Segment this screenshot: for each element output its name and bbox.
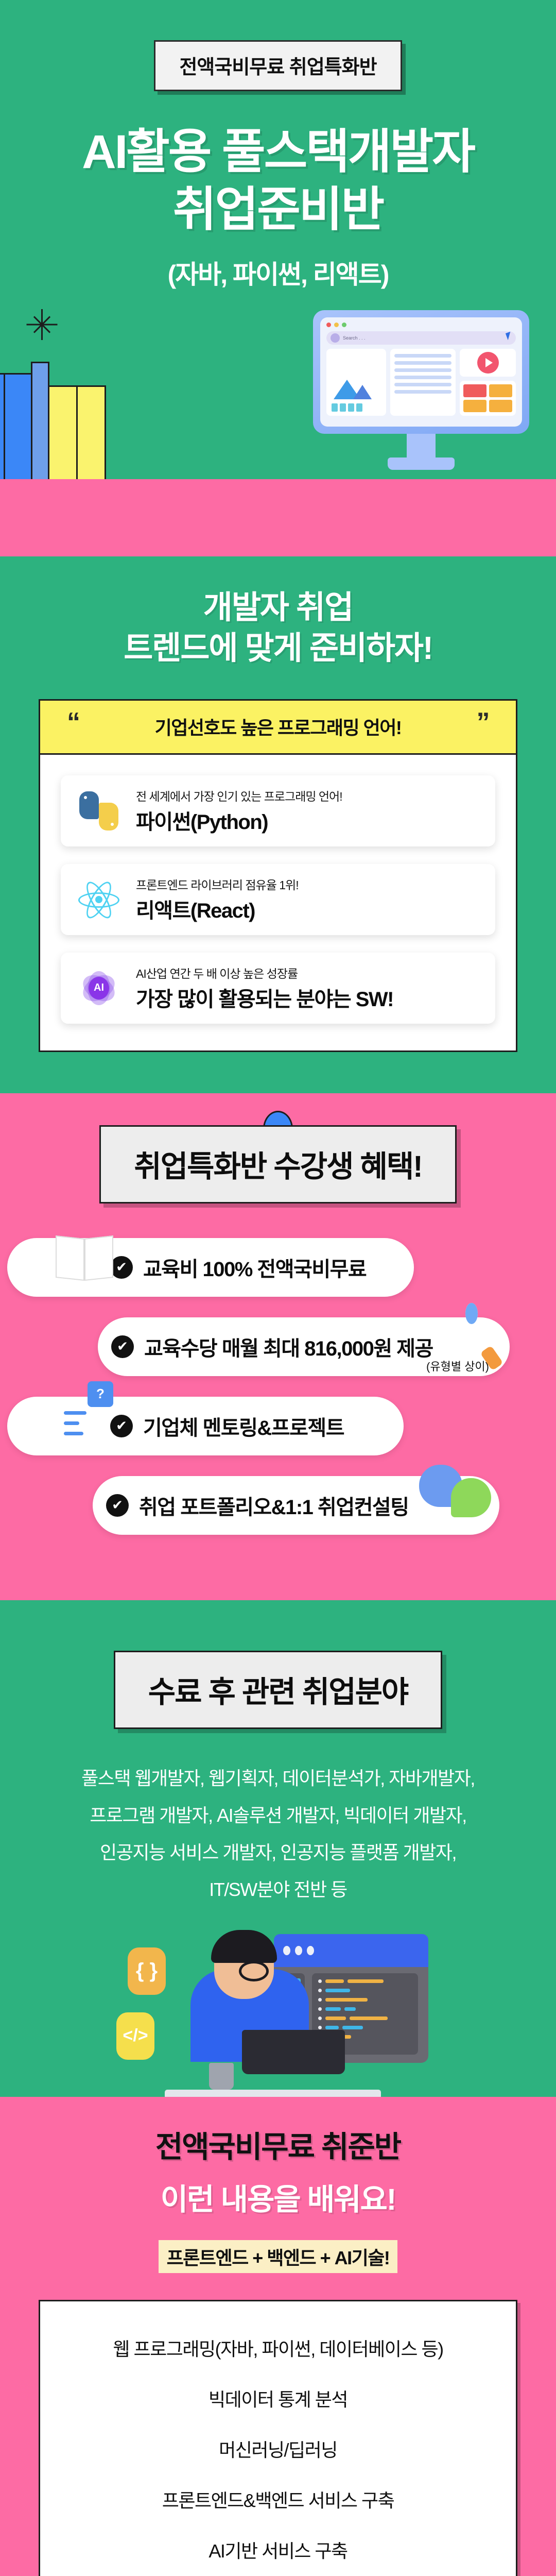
monitor-illustration: Search . . .: [313, 310, 529, 470]
lang-name: 가장 많이 활용되는 분야는 SW!: [136, 982, 393, 1012]
open-book-icon: [51, 1229, 117, 1286]
curriculum-tag: 프론트엔드 + 백엔드 + AI기술!: [159, 2240, 398, 2273]
ai-logo-icon: AI: [75, 964, 123, 1012]
quote-open-icon: “: [67, 707, 80, 738]
benefit-text: 교육수당 매월 최대 816,000원 제공: [144, 1332, 433, 1362]
curriculum-title-line2: 이런 내용을 배워요!: [0, 2175, 556, 2218]
lang-subtitle: AI산업 연간 두 배 이상 높은 성장률: [136, 964, 393, 981]
glasses-icon: [239, 1961, 269, 1981]
person-hair: [211, 1930, 277, 1963]
fields-line: 풀스택 웹개발자, 웹기획자, 데이터분석가, 자바개발자,: [0, 1760, 556, 1797]
list-item: AI기반 서비스 구축: [56, 2536, 500, 2563]
coder-illustration: { } </>: [113, 1929, 443, 2099]
trend-box-header: “ 기업선호도 높은 프로그래밍 언어! ”: [40, 701, 516, 755]
monitor-screen: Search . . .: [313, 310, 529, 434]
fields-plaque-wrap: 수료 후 관련 취업분야: [114, 1651, 443, 1729]
trend-box: “ 기업선호도 높은 프로그래밍 언어! ” 전 세계에서 가장 인기 있는 프…: [39, 699, 517, 1052]
book-icon: [4, 373, 32, 479]
monitor-neck: [407, 434, 436, 457]
benefit-text: 기업체 멘토링&프로젝트: [143, 1411, 344, 1441]
code-icon: </>: [116, 2012, 154, 2060]
list-item: ✔ 취업 포트폴리오&1:1 취업컨설팅: [0, 1475, 556, 1536]
react-logo-icon: [75, 876, 123, 923]
search-icon: [331, 333, 340, 343]
ai-badge-label: AI: [89, 977, 109, 999]
window-dots-icon: [274, 1934, 428, 1967]
fields-line: 인공지능 서비스 개발자, 인공지능 플랫폼 개발자,: [0, 1834, 556, 1871]
play-icon: [477, 352, 499, 374]
window-dots-icon: [326, 323, 516, 327]
check-icon: ✔: [111, 1335, 134, 1358]
cursor-icon: [506, 332, 513, 341]
search-placeholder: Search . . .: [343, 335, 366, 341]
list-item: 전 세계에서 가장 인기 있는 프로그래밍 언어! 파이썬(Python): [61, 775, 495, 846]
book-icon: [48, 385, 78, 479]
list-item: ✔ 교육비 100% 전액국비무료: [0, 1236, 556, 1298]
benefits-list: ✔ 교육비 100% 전액국비무료 ✔ 교육수당 매월 최대 816,000원 …: [0, 1236, 556, 1536]
fields-text: 풀스택 웹개발자, 웹기획자, 데이터분석가, 자바개발자, 프로그램 개발자,…: [0, 1760, 556, 1908]
list-item: 프론트엔드 라이브러리 점유율 1위! 리액트(React): [61, 864, 495, 935]
python-logo-icon: [75, 787, 123, 835]
book-icon: [76, 385, 106, 479]
lang-name: 리액트(React): [136, 894, 299, 924]
lang-subtitle: 전 세계에서 가장 인기 있는 프로그래밍 언어!: [136, 787, 342, 804]
image-card: [326, 349, 386, 416]
quote-close-icon: ”: [477, 707, 490, 738]
list-item: AI AI산업 연간 두 배 이상 높은 성장률 가장 많이 활용되는 분야는 …: [61, 953, 495, 1024]
list-item: 프론트엔드&백엔드 서비스 구축: [56, 2486, 500, 2513]
note-question-icon: ?: [57, 1374, 112, 1451]
fields-line: 프로그램 개발자, AI솔루션 개발자, 빅데이터 개발자,: [0, 1797, 556, 1834]
fields-section: 수료 후 관련 취업분야 풀스택 웹개발자, 웹기획자, 데이터분석가, 자바개…: [0, 1600, 556, 2099]
bar-chart-icon: [332, 403, 362, 412]
text-lines-card: [390, 349, 456, 416]
benefit-pill: ✔ 교육비 100% 전액국비무료: [7, 1238, 414, 1297]
book-stack-decoration: [0, 362, 105, 479]
benefits-plaque: 취업특화반 수강생 혜택!: [99, 1125, 456, 1204]
pink-divider-band: [0, 479, 556, 556]
benefits-plaque-wrap: 취업특화반 수강생 혜택!: [99, 1125, 456, 1204]
fields-plaque: 수료 후 관련 취업분야: [114, 1651, 443, 1729]
grid-card: [460, 381, 516, 416]
monitor-base: [388, 457, 455, 470]
lang-subtitle: 프론트엔드 라이브러리 점유율 1위!: [136, 875, 299, 893]
video-card: [460, 349, 516, 377]
magnifier-icon: [443, 1309, 500, 1370]
trend-heading-line2: 트렌드에 맞게 준비하자!: [0, 628, 556, 669]
hero-subtitle: (자바, 파이썬, 리액트): [0, 254, 556, 291]
list-item: 머신러닝/딥러닝: [56, 2435, 500, 2462]
list-item: ✔ 교육수당 매월 최대 816,000원 제공 (유형별 상이): [0, 1316, 556, 1378]
benefit-pill: ✔ 취업 포트폴리오&1:1 취업컨설팅: [93, 1476, 499, 1535]
mug-icon: [209, 2063, 234, 2090]
hero-title-line1: AI활용 풀스택개발자: [0, 123, 556, 181]
fields-line: IT/SW분야 전반 등: [0, 1871, 556, 1908]
benefit-text: 취업 포트폴리오&1:1 취업컨설팅: [139, 1490, 409, 1520]
list-item: ? ✔ 기업체 멘토링&프로젝트: [0, 1395, 556, 1457]
search-bar: Search . . .: [326, 331, 516, 345]
curriculum-box: 웹 프로그래밍(자바, 파이썬, 데이터베이스 등) 빅데이터 통계 분석 머신…: [39, 2300, 517, 2576]
chat-bubbles-icon: [419, 1465, 491, 1527]
benefit-text: 교육비 100% 전액국비무료: [143, 1252, 366, 1282]
list-item: 빅데이터 통계 분석: [56, 2385, 500, 2412]
check-icon: ✔: [106, 1494, 129, 1517]
lang-name: 파이썬(Python): [136, 805, 342, 835]
sparkle-icon: [27, 309, 58, 340]
hero-section: 전액국비무료 취업특화반 AI활용 풀스택개발자 취업준비반 (자바, 파이썬,…: [0, 0, 556, 479]
curriculum-section: 전액국비무료 취준반 이런 내용을 배워요! 프론트엔드 + 백엔드 + AI기…: [0, 2097, 556, 2576]
trend-heading-line1: 개발자 취업: [0, 587, 556, 628]
hero-title: AI활용 풀스택개발자 취업준비반: [0, 123, 556, 239]
mountain-icon: [353, 385, 372, 399]
check-icon: ✔: [110, 1415, 133, 1437]
benefits-section: 취업특화반 수강생 혜택! ✔ 교육비 100% 전액국비무료 ✔ 교육수당 매…: [0, 1093, 556, 1600]
list-item: 웹 프로그래밍(자바, 파이썬, 데이터베이스 등): [56, 2334, 500, 2361]
trend-section: 개발자 취업 트렌드에 맞게 준비하자! “ 기업선호도 높은 프로그래밍 언어…: [0, 556, 556, 1093]
book-icon: [31, 362, 49, 479]
laptop-icon: [242, 2030, 345, 2074]
hero-ribbon-badge: 전액국비무료 취업특화반: [154, 40, 402, 91]
trend-box-title: 기업선호도 높은 프로그래밍 언어!: [155, 717, 402, 738]
trend-heading: 개발자 취업 트렌드에 맞게 준비하자!: [0, 587, 556, 669]
brace-icon: { }: [128, 1947, 166, 1995]
curriculum-title-line1: 전액국비무료 취준반: [0, 2123, 556, 2166]
benefit-pill: ✔ 교육수당 매월 최대 816,000원 제공 (유형별 상이): [98, 1317, 510, 1376]
promo-page: 전액국비무료 취업특화반 AI활용 풀스택개발자 취업준비반 (자바, 파이썬,…: [0, 0, 556, 2576]
hero-title-line2: 취업준비반: [0, 181, 556, 239]
benefit-pill: ? ✔ 기업체 멘토링&프로젝트: [7, 1397, 404, 1455]
